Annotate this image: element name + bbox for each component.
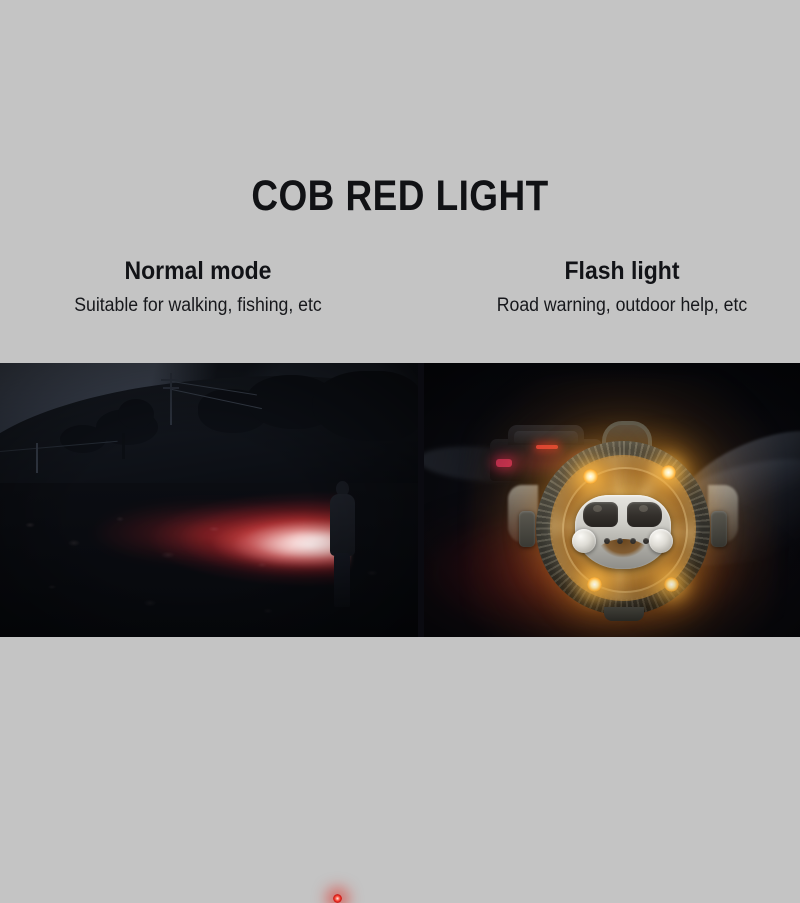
beam-hotspot	[150, 511, 350, 575]
column-normal-mode: Normal mode Suitable for walking, fishin…	[0, 256, 400, 318]
person-silhouette	[328, 481, 358, 607]
indicator-dot	[617, 538, 623, 544]
power-button-left[interactable]	[572, 529, 596, 553]
indicator-dot	[643, 538, 649, 544]
indicator-dot	[630, 538, 636, 544]
panel-highlight	[639, 505, 648, 512]
tree-silhouette	[118, 399, 154, 429]
indicator-dot	[604, 538, 610, 544]
person-torso	[330, 494, 355, 556]
panel-highlight	[593, 505, 602, 512]
person-legs	[334, 553, 350, 607]
column-title-normal-mode: Normal mode	[12, 256, 384, 286]
page-title: COB RED LIGHT	[56, 174, 744, 219]
module-arch-cutout	[592, 539, 654, 583]
center-control-module	[575, 495, 671, 569]
photo-flash-light	[424, 363, 800, 637]
utility-pole	[36, 443, 38, 473]
tree-silhouette	[60, 425, 106, 453]
power-button-right[interactable]	[649, 529, 673, 553]
column-title-flash-light: Flash light	[458, 256, 786, 286]
tree-trunk	[122, 433, 125, 459]
product-marketing-banner: COB RED LIGHT Normal mode Suitable for w…	[0, 0, 800, 800]
bottom-tab	[604, 607, 644, 621]
led-bottom-right	[664, 577, 679, 592]
photo-band	[0, 363, 800, 637]
photo-normal-mode	[0, 363, 418, 637]
led-top-left	[583, 469, 598, 484]
headlamp-product	[528, 419, 718, 619]
column-subtitle-normal-mode: Suitable for walking, fishing, etc	[10, 295, 386, 318]
column-flash-light: Flash light Road warning, outdoor help, …	[400, 256, 800, 318]
led-top-right	[661, 465, 676, 480]
red-point-light	[333, 894, 342, 903]
led-bottom-left	[587, 577, 602, 592]
column-subtitle-flash-light: Road warning, outdoor help, etc	[456, 295, 787, 318]
side-clip-right	[711, 511, 727, 547]
side-clip-left	[519, 511, 535, 547]
